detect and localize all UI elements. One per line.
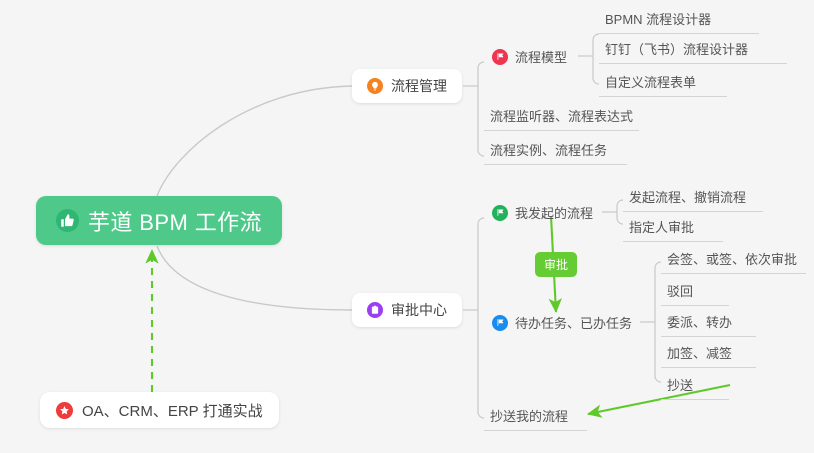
connector-ac-bracket	[478, 218, 484, 418]
branch-label: 审批中心	[391, 300, 447, 320]
leaf-item[interactable]: 发起流程、撤销流程	[623, 187, 763, 212]
sub-item-label: 流程模型	[515, 47, 567, 66]
mindmap-canvas: 芋道 BPM 工作流 OA、CRM、ERP 打通实战 流程管理	[0, 0, 814, 453]
leaf-item[interactable]: 委派、转办	[661, 312, 756, 337]
note-label: OA、CRM、ERP 打通实战	[82, 400, 263, 421]
leaf-item[interactable]: 抄送我的流程	[484, 406, 587, 431]
connector-root-to-approval-center	[157, 246, 352, 310]
sub-item-label: 我发起的流程	[515, 203, 593, 222]
sub-item-process-model[interactable]: 流程模型	[492, 47, 567, 66]
sub-item-my-initiated-process[interactable]: 我发起的流程	[492, 203, 593, 222]
leaf-item[interactable]: 会签、或签、依次审批	[661, 249, 806, 274]
leaf-item[interactable]: 加签、减签	[661, 343, 756, 368]
flag-icon	[492, 315, 508, 331]
connector-root-to-process-management	[157, 86, 352, 196]
branch-node-process-management[interactable]: 流程管理	[352, 69, 462, 103]
leaf-item[interactable]: 驳回	[661, 281, 729, 306]
root-label: 芋道 BPM 工作流	[88, 205, 262, 237]
leaf-item[interactable]: 流程实例、流程任务	[484, 140, 627, 165]
sub-item-label: 待办任务、已办任务	[515, 313, 632, 332]
sub-item-todo-done-tasks[interactable]: 待办任务、已办任务	[492, 313, 632, 332]
leaf-item[interactable]: 指定人审批	[623, 217, 723, 242]
leaf-item[interactable]: 抄送	[661, 375, 729, 400]
leaf-item[interactable]: 流程监听器、流程表达式	[484, 106, 639, 131]
lightbulb-icon	[367, 78, 383, 94]
branch-label: 流程管理	[391, 76, 447, 96]
annotation-badge-label: 审批	[544, 256, 568, 273]
clipboard-icon	[367, 302, 383, 318]
annotation-badge-approval: 审批	[535, 252, 577, 277]
thumbs-up-icon	[56, 209, 79, 232]
note-node-oa-crm-erp[interactable]: OA、CRM、ERP 打通实战	[40, 392, 279, 428]
leaf-item[interactable]: 自定义流程表单	[599, 72, 727, 97]
star-circle-icon	[56, 402, 73, 419]
flag-icon	[492, 49, 508, 65]
branch-node-approval-center[interactable]: 审批中心	[352, 293, 462, 327]
leaf-item[interactable]: BPMN 流程设计器	[599, 9, 759, 34]
root-node[interactable]: 芋道 BPM 工作流	[36, 196, 282, 245]
flag-icon	[492, 205, 508, 221]
leaf-item[interactable]: 钉钉（飞书）流程设计器	[599, 39, 787, 64]
